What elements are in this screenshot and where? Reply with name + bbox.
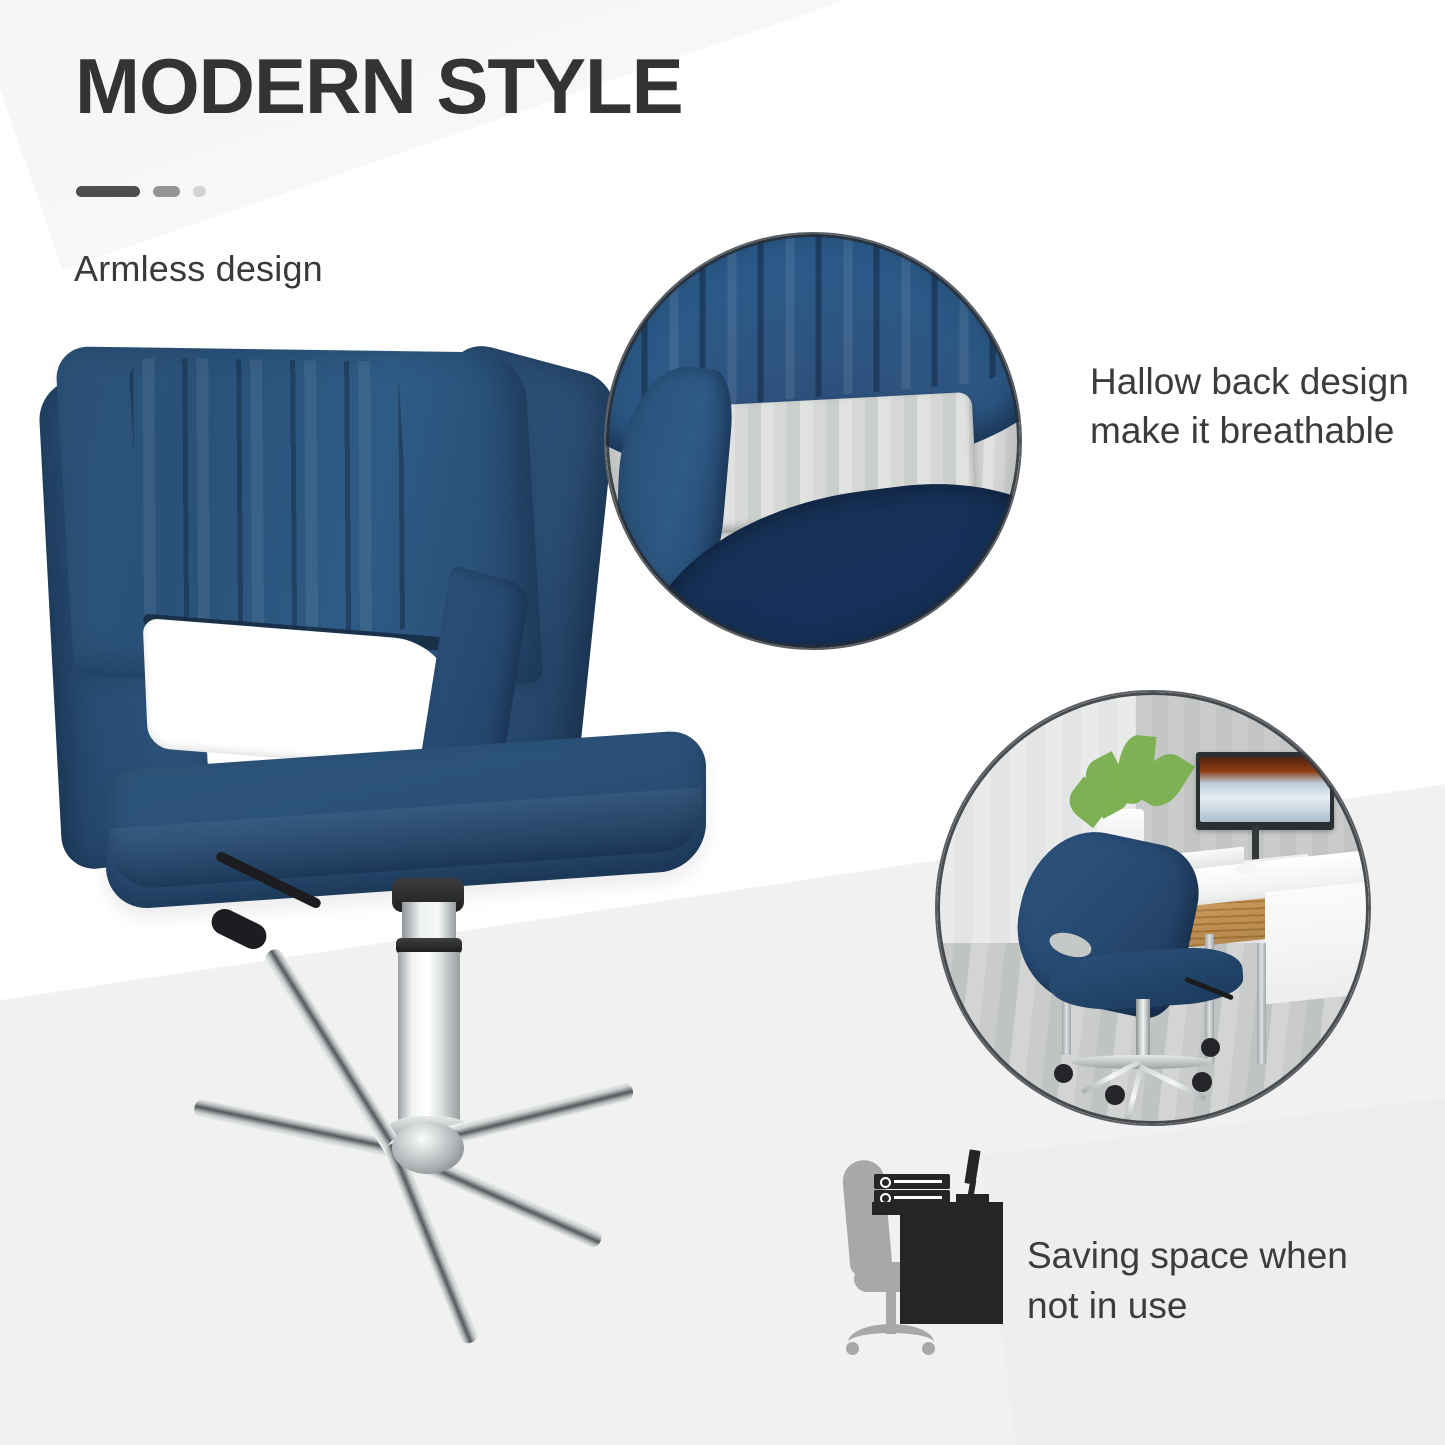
- pictogram-monitor-base: [956, 1194, 989, 1202]
- page-title: MODERN STYLE: [75, 47, 683, 125]
- dash-long-icon: [76, 186, 140, 197]
- gas-lift-upper: [402, 902, 456, 942]
- caption-armless-design: Armless design: [74, 248, 323, 290]
- caption-saving-space: Saving space when not in use: [1027, 1231, 1407, 1330]
- pictogram-binder-label: [894, 1196, 942, 1199]
- pictogram-desk-top: [872, 1202, 1003, 1215]
- lifestyle-scene-inset: [935, 690, 1371, 1126]
- dash-medium-icon: [153, 186, 180, 197]
- pictogram-caster-icon: [922, 1342, 935, 1355]
- hallow-back-closeup-inset: [604, 232, 1022, 650]
- chair-backrest-channel-tufting: [128, 358, 414, 632]
- inset-rim: [937, 692, 1369, 1124]
- base-center-cap: [392, 1122, 464, 1174]
- background-wedge-top: [0, 0, 1102, 269]
- pictogram-desk-body: [900, 1215, 1003, 1324]
- pictogram-chair-base: [848, 1324, 934, 1361]
- dash-dot-icon: [193, 186, 206, 197]
- chair-five-star-base: [40, 1100, 740, 1400]
- title-dash-group: [76, 186, 206, 197]
- infographic-page: MODERN STYLE Armless design: [0, 0, 1445, 1445]
- pictogram-binder-label: [894, 1180, 942, 1183]
- height-adjust-lever-handle: [207, 905, 271, 954]
- caption-hallow-back: Hallow back design make it breathable: [1090, 358, 1420, 456]
- pictogram-caster-icon: [846, 1342, 859, 1355]
- gas-lift-cylinder: [398, 952, 460, 1122]
- saving-space-pictogram: [826, 1152, 1054, 1368]
- pictogram-binder-ring: [880, 1177, 891, 1188]
- inset-rim: [606, 234, 1020, 648]
